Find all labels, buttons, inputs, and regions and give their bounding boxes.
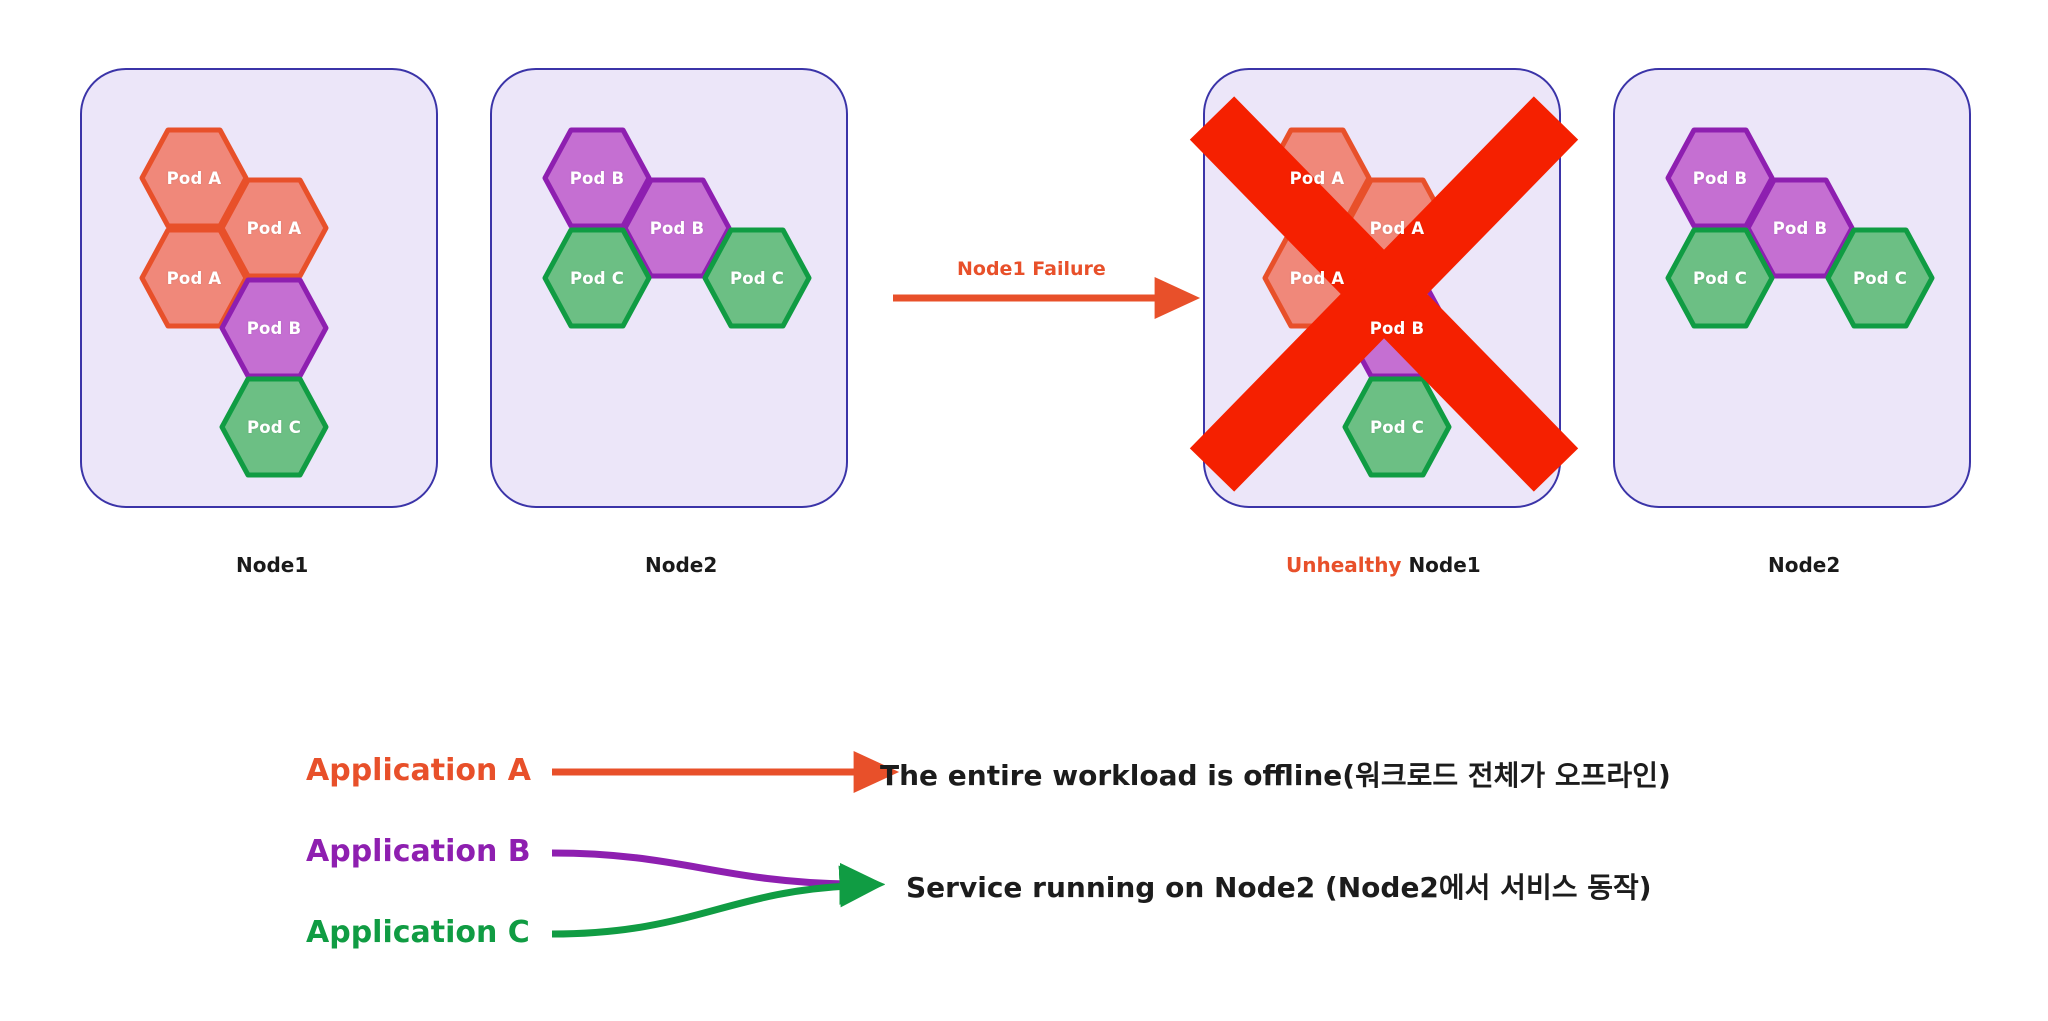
- node-caption-before-node1: Node1: [236, 553, 308, 577]
- legend-application-b: Application B: [306, 834, 531, 869]
- pod-label: Pod C: [570, 269, 624, 288]
- pod-label: Pod B: [1773, 219, 1828, 238]
- pod-label: Pod A: [167, 169, 222, 188]
- node-caption-after-node1: Unhealthy Node1: [1286, 553, 1481, 577]
- node-caption-after-node2: Node2: [1768, 553, 1840, 577]
- pod-c-3: Pod C: [705, 226, 809, 330]
- node-caption-text: Node1: [1408, 553, 1480, 577]
- pod-b-1: Pod B: [222, 276, 326, 380]
- node-caption-before-node2: Node2: [645, 553, 717, 577]
- legend-outcome-running: Service running on Node2 (Node2에서 서비스 동작…: [906, 866, 1652, 906]
- pod-label: Pod A: [1290, 169, 1345, 188]
- legend-application-a: Application A: [306, 753, 531, 788]
- unhealthy-status-text: Unhealthy: [1286, 553, 1401, 577]
- diagram-canvas: Pod A Pod A Pod A Pod B Pod C Node1 Pod …: [0, 0, 2048, 1021]
- pod-c-2: Pod C: [545, 226, 649, 330]
- legend-arrow-app-b: [552, 853, 848, 884]
- pod-c-4: Pod C: [1345, 375, 1449, 479]
- pod-c-6: Pod C: [1828, 226, 1932, 330]
- pod-label: Pod C: [730, 269, 784, 288]
- pod-label: Pod C: [1370, 418, 1424, 437]
- node-caption-text: Node2: [1768, 553, 1840, 577]
- pod-label: Pod B: [247, 319, 302, 338]
- pod-label: Pod B: [570, 169, 625, 188]
- pod-label: Pod B: [650, 219, 705, 238]
- pod-label: Pod B: [1370, 319, 1425, 338]
- legend-outcome-offline: The entire workload is offline(워크로드 전체가 …: [880, 754, 1671, 794]
- pod-b-4: Pod B: [1345, 276, 1449, 380]
- pod-label: Pod C: [1693, 269, 1747, 288]
- legend-application-c: Application C: [306, 915, 530, 950]
- legend-arrow-app-c: [552, 886, 848, 934]
- pod-label: Pod A: [1290, 269, 1345, 288]
- pod-label: Pod A: [247, 219, 302, 238]
- pod-label: Pod A: [1370, 219, 1425, 238]
- node-caption-text: Node2: [645, 553, 717, 577]
- pod-c-1: Pod C: [222, 375, 326, 479]
- failure-arrow-label: Node1 Failure: [957, 258, 1106, 280]
- pod-label: Pod C: [247, 418, 301, 437]
- pod-c-5: Pod C: [1668, 226, 1772, 330]
- pod-label: Pod C: [1853, 269, 1907, 288]
- node-caption-text: Node1: [236, 553, 308, 577]
- pod-label: Pod B: [1693, 169, 1748, 188]
- pod-label: Pod A: [167, 269, 222, 288]
